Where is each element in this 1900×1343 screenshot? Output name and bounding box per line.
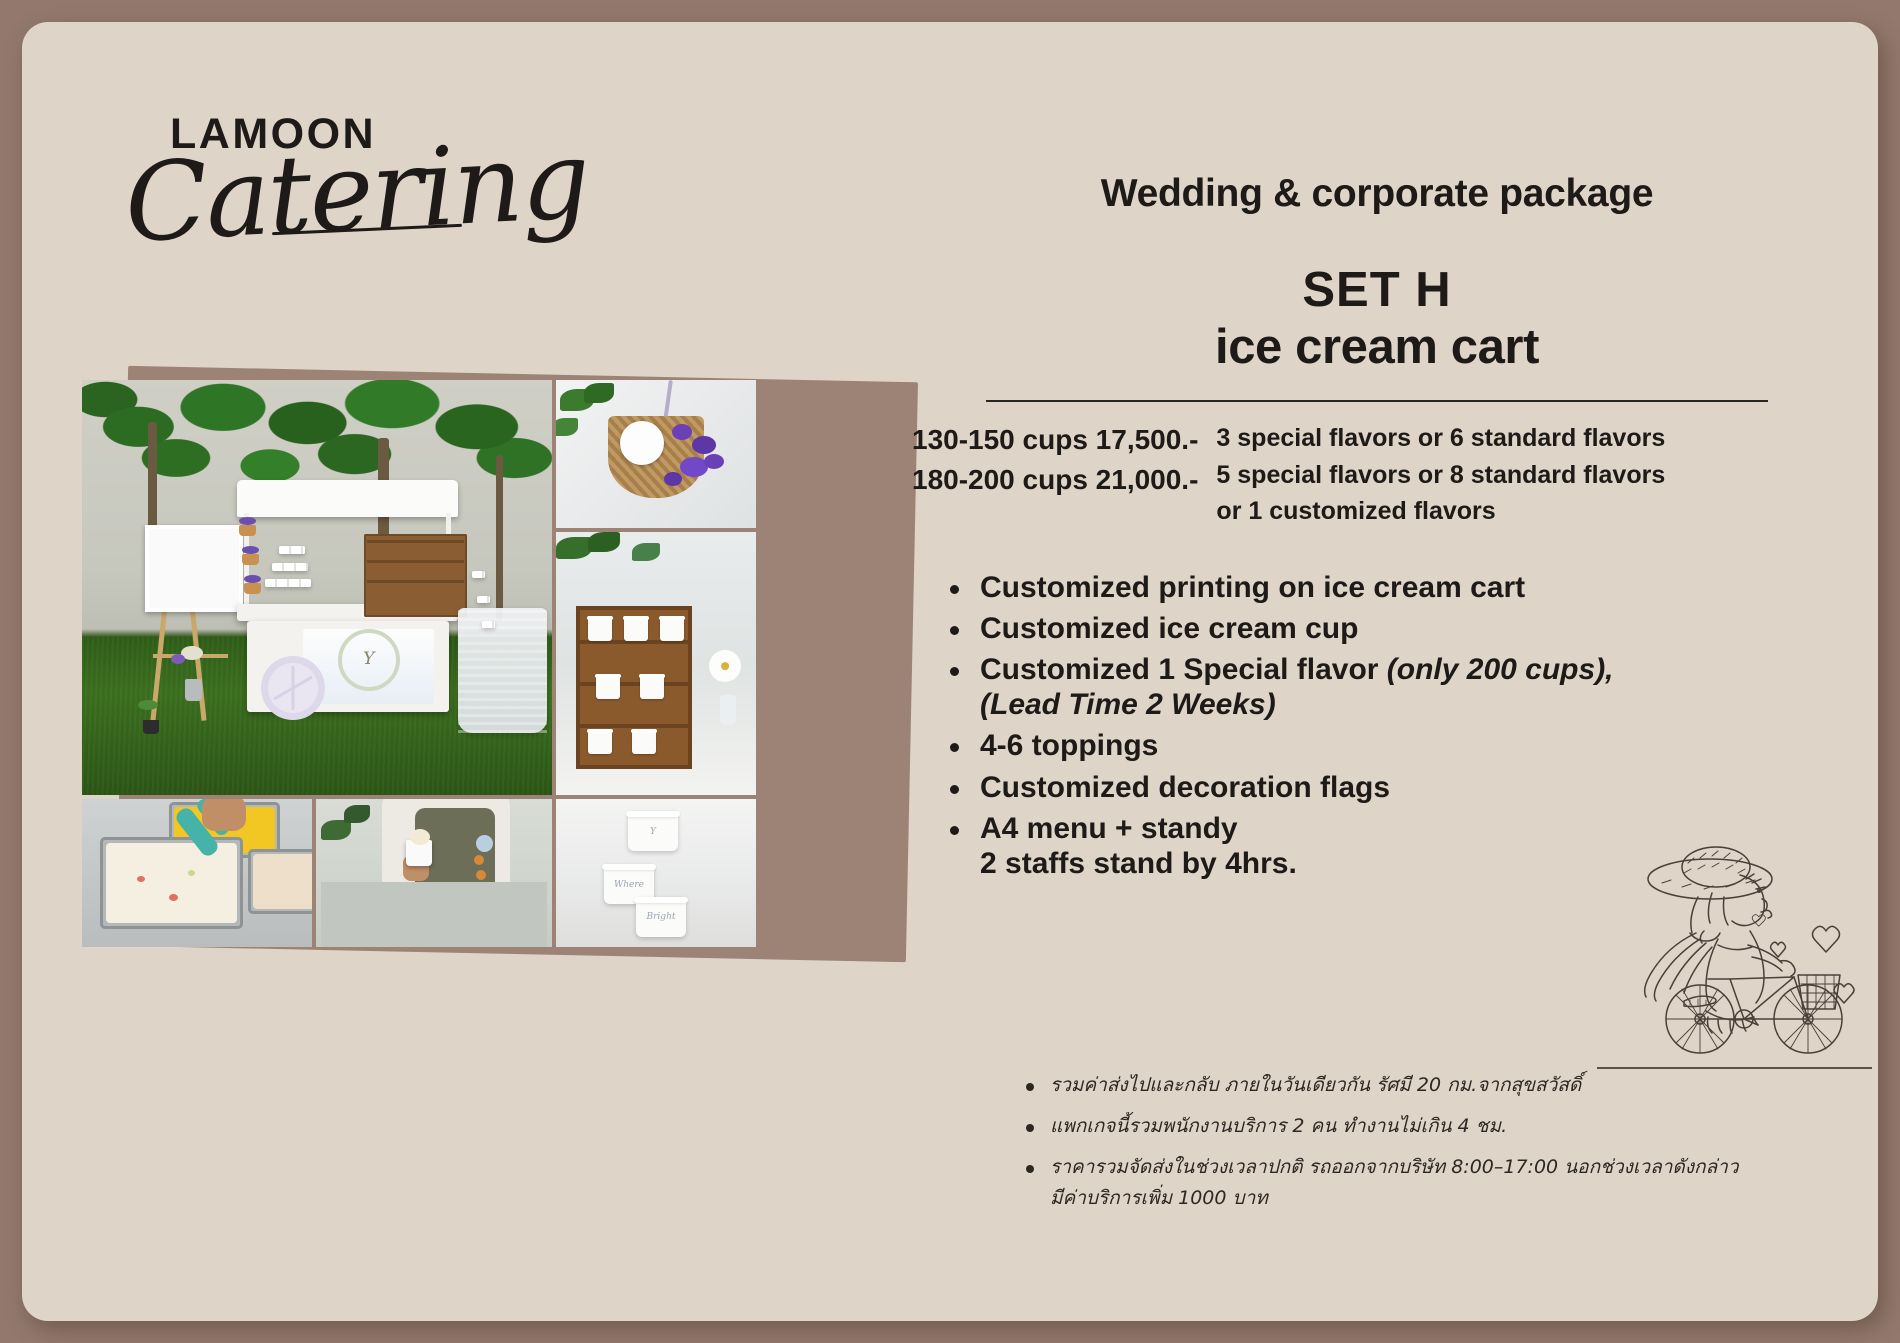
photo-staff-serving [316,799,552,947]
feature-note: (only 200 cups), [1378,653,1613,686]
bullet-icon [950,743,959,752]
feature-text: Customized ice cream cup [980,612,1358,645]
photo-cup-shelf [556,532,756,795]
divider [986,400,1768,402]
thai-notes: รวมค่าส่งไปและกลับ ภายในวันเดียวกัน รัศม… [1022,1072,1782,1226]
feature-text: Customized 1 Special flavor [980,653,1378,686]
photo-flower-basket [556,380,756,528]
note-text-continuation: มีค่าบริการเพิ่ม 1000 บาท [1050,1185,1782,1212]
bullet-icon [950,626,959,635]
list-item: ราคารวมจัดส่งในช่วงเวลาปกติ รถออกจากบริษ… [1022,1154,1782,1212]
list-item: แพกเกจนี้รวมพนักงานบริการ 2 คน ทำงานไม่เ… [1022,1113,1782,1140]
feature-text: Customized decoration flags [980,771,1390,804]
photo-ice-cream-cart: Y [82,380,552,795]
list-item: รวมค่าส่งไปและกลับ ภายในวันเดียวกัน รัศม… [1022,1072,1782,1099]
feature-text: A4 menu + standy [980,812,1238,845]
photo-cup-stack: Y Where Bright [556,799,756,947]
set-subtitle: ice cream cart [902,321,1852,374]
table-row: 130-150 cups 17,500.- [912,424,1198,456]
pricing-quantity-column: 130-150 cups 17,500.- 180-200 cups 21,00… [912,424,1198,526]
feature-subline: (Lead Time 2 Weeks) [980,687,1852,722]
table-row: 180-200 cups 21,000.- [912,464,1198,496]
pricing-table: 130-150 cups 17,500.- 180-200 cups 21,00… [902,424,1852,526]
set-name: SET H [902,264,1852,317]
brand-logo: LAMOON Catering [122,100,452,315]
table-row: 5 special flavors or 8 standard flavors [1216,461,1665,490]
page-title: Wedding & corporate package [902,172,1852,216]
bullet-icon [1026,1124,1034,1132]
girl-on-bicycle-icon [1612,827,1872,1057]
illustration-rule [1597,1067,1872,1069]
list-item: Customized decoration flags [938,770,1852,805]
note-text: แพกเกจนี้รวมพนักงานบริการ 2 คน ทำงานไม่เ… [1050,1115,1507,1137]
feature-text: Customized printing on ice cream cart [980,571,1525,604]
list-item: 4-6 toppings [938,728,1852,763]
brand-name-script: Catering [122,118,591,267]
note-text: รวมค่าส่งไปและกลับ ภายในวันเดียวกัน รัศม… [1050,1074,1581,1096]
bullet-icon [1026,1165,1034,1173]
bullet-icon [950,785,959,794]
extra-flavor-line: or 1 customized flavors [1216,497,1665,526]
bullet-icon [950,826,959,835]
note-text: ราคารวมจัดส่งในช่วงเวลาปกติ รถออกจากบริษ… [1050,1156,1739,1178]
bullet-icon [950,585,959,594]
pricing-flavor-column: 3 special flavors or 6 standard flavors … [1216,424,1665,526]
feature-text: 4-6 toppings [980,729,1158,762]
photo-scooping-ice-cream [82,799,312,947]
list-item: Customized ice cream cup [938,611,1852,646]
package-details: Wedding & corporate package SET H ice cr… [902,172,1852,887]
bullet-icon [950,667,959,676]
table-row: 3 special flavors or 6 standard flavors [1216,424,1665,453]
flyer-card: LAMOON Catering Y [22,22,1878,1321]
list-item: Customized printing on ice cream cart [938,570,1852,605]
photo-collage: Y [60,352,890,977]
bullet-icon [1026,1083,1034,1091]
list-item: Customized 1 Special flavor (only 200 cu… [938,652,1852,722]
